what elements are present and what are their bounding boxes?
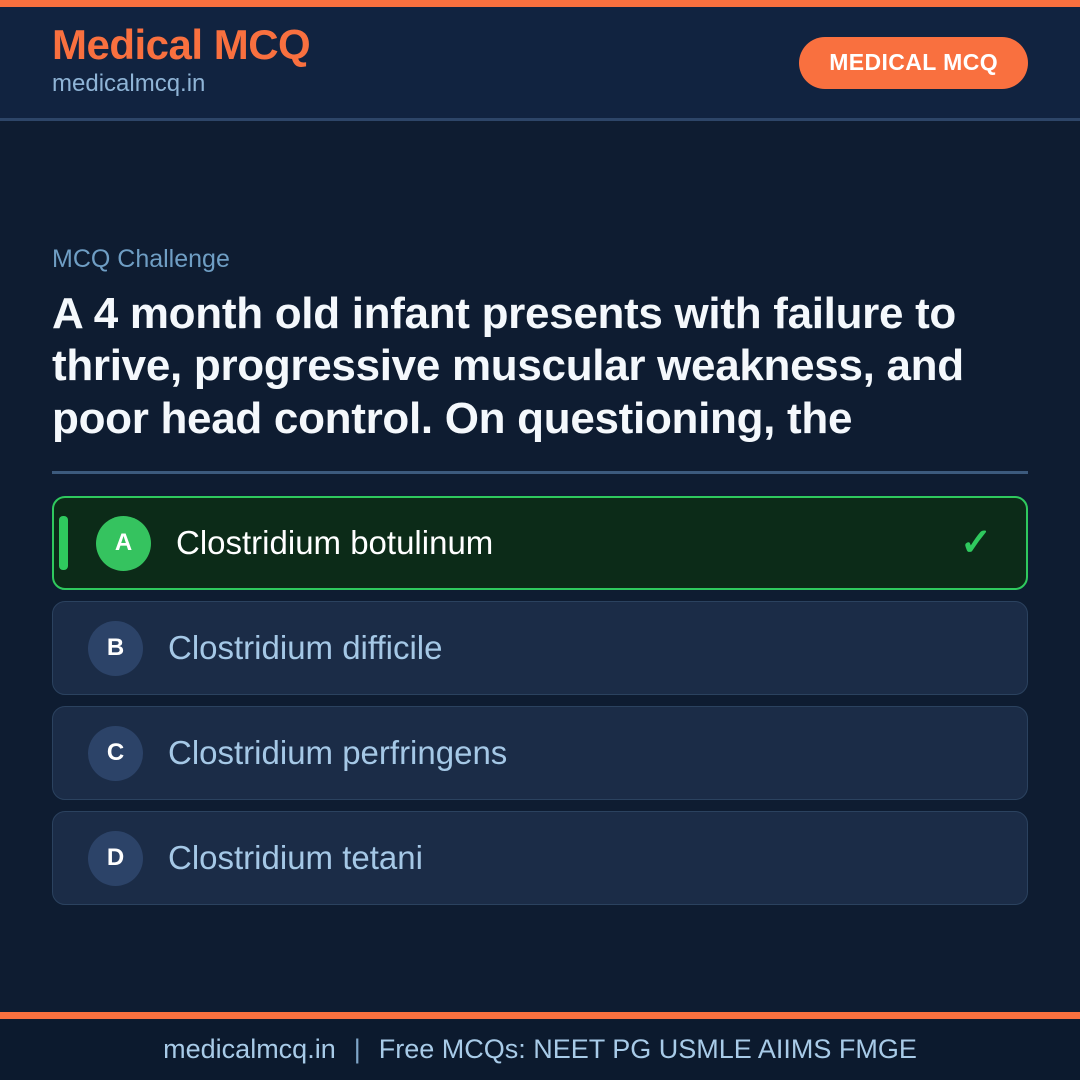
question-divider — [52, 471, 1028, 474]
option-d-label: Clostridium tetani — [168, 838, 1001, 878]
options-list: A Clostridium botulinum ✓ B Clostridium … — [52, 496, 1028, 905]
question-area: MCQ Challenge A 4 month old infant prese… — [0, 121, 1080, 1012]
option-c-label: Clostridium perfringens — [168, 733, 1001, 773]
option-b[interactable]: B Clostridium difficile — [52, 601, 1028, 695]
option-a[interactable]: A Clostridium botulinum ✓ — [52, 496, 1028, 590]
option-d[interactable]: D Clostridium tetani — [52, 811, 1028, 905]
footer-content: medicalmcq.in | Free MCQs: NEET PG USMLE… — [163, 1034, 917, 1065]
option-c-badge: C — [88, 726, 143, 781]
option-a-badge: A — [96, 516, 151, 571]
header-bar: Medical MCQ medicalmcq.in MEDICAL MCQ — [0, 7, 1080, 121]
correct-accent-bar — [59, 516, 68, 570]
footer-bar: medicalmcq.in | Free MCQs: NEET PG USMLE… — [0, 1012, 1080, 1080]
option-c[interactable]: C Clostridium perfringens — [52, 706, 1028, 800]
option-b-badge: B — [88, 621, 143, 676]
brand: Medical MCQ medicalmcq.in — [52, 23, 310, 101]
mcq-card: Medical MCQ medicalmcq.in MEDICAL MCQ MC… — [0, 0, 1080, 1080]
footer-separator: | — [336, 1034, 379, 1065]
question-text: A 4 month old infant presents with failu… — [52, 288, 1028, 445]
header-badge: MEDICAL MCQ — [799, 37, 1028, 89]
top-accent-rule — [0, 0, 1080, 7]
check-icon: ✓ — [960, 524, 992, 562]
brand-title: Medical MCQ — [52, 23, 310, 67]
option-d-badge: D — [88, 831, 143, 886]
footer-tags: Free MCQs: NEET PG USMLE AIIMS FMGE — [379, 1034, 917, 1065]
kicker-label: MCQ Challenge — [52, 244, 1028, 274]
option-a-label: Clostridium botulinum — [176, 523, 960, 563]
footer-site[interactable]: medicalmcq.in — [163, 1034, 336, 1065]
brand-subtitle: medicalmcq.in — [52, 67, 310, 102]
option-b-label: Clostridium difficile — [168, 628, 1001, 668]
